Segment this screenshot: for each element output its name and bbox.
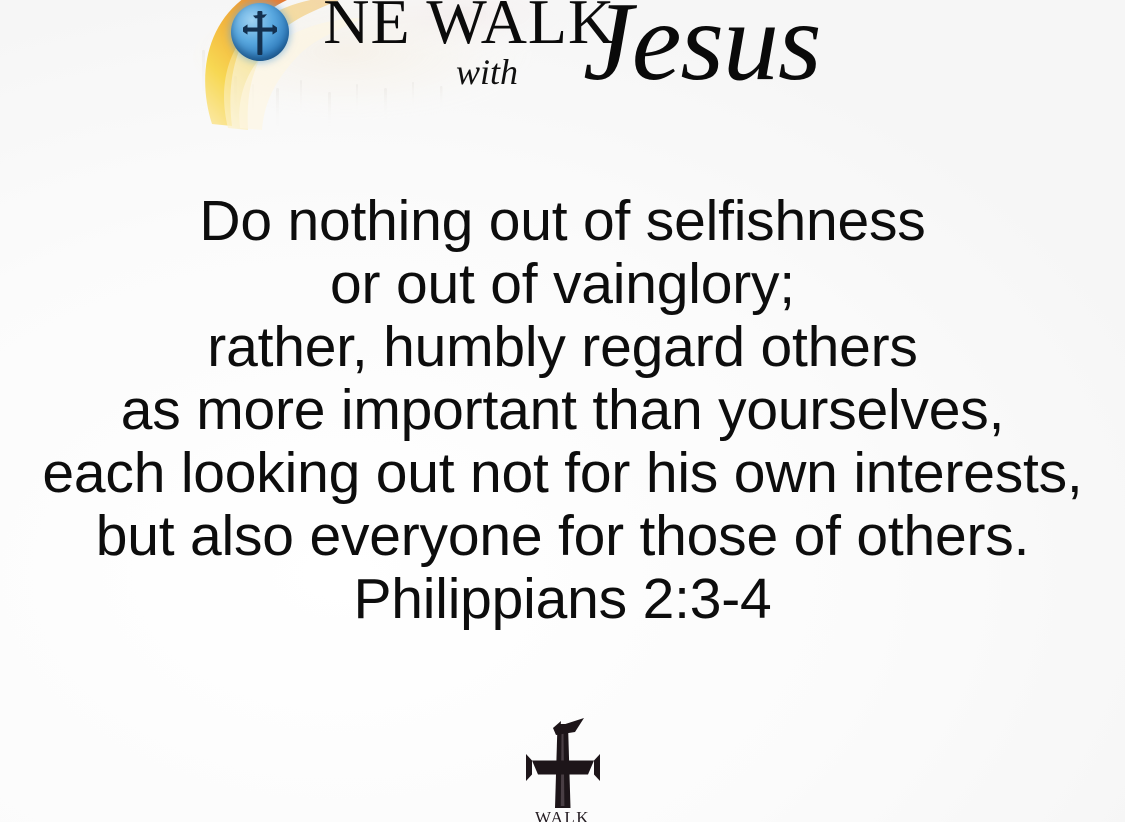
logo-connector-with: with xyxy=(456,54,518,90)
footer-walk-label: WALK xyxy=(535,809,590,822)
verse-line: but also everyone for those of others. xyxy=(0,505,1125,568)
slide-canvas: ONE WALK with Jesus Do nothing out of se… xyxy=(0,0,1125,822)
verse-line: or out of vainglory; xyxy=(0,253,1125,316)
verse-text-block: Do nothing out of selfishness or out of … xyxy=(0,190,1125,631)
logo-wordmark-rest: NE WALK xyxy=(323,0,615,57)
verse-line: Do nothing out of selfishness xyxy=(0,190,1125,253)
one-walk-with-jesus-logo: ONE WALK with Jesus xyxy=(188,0,918,142)
verse-line: as more important than yourselves, xyxy=(0,379,1125,442)
footer-logo-mark: WALK xyxy=(0,692,1125,822)
verse-reference: Philippians 2:3-4 xyxy=(0,568,1125,631)
flared-cross-icon xyxy=(520,710,606,816)
verse-line: each looking out not for his own interes… xyxy=(0,442,1125,505)
logo-brand-jesus: Jesus xyxy=(583,0,821,98)
logo-wordmark: ONE WALK xyxy=(276,0,615,54)
verse-line: rather, humbly regard others xyxy=(0,316,1125,379)
